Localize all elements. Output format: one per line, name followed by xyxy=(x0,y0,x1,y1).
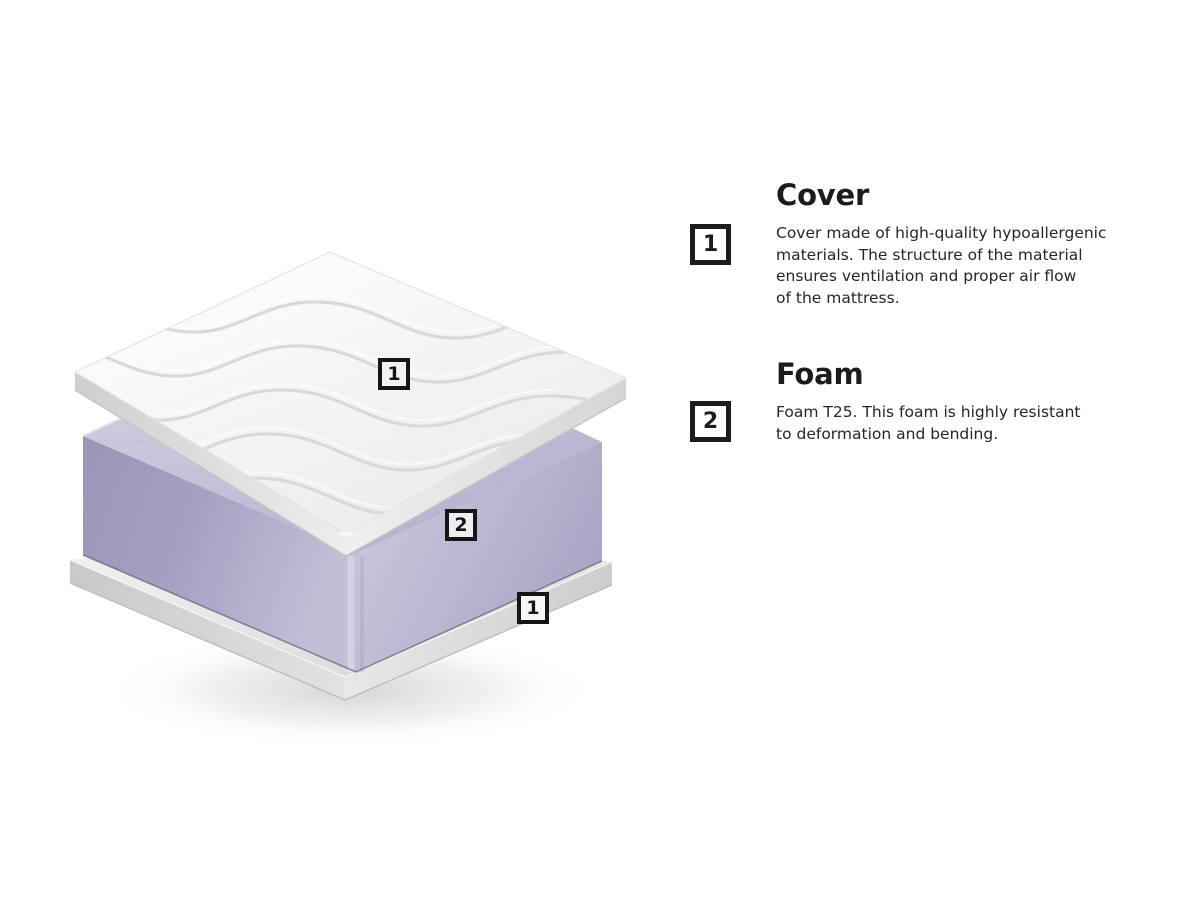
callout-marker-foam[interactable]: 2 xyxy=(445,509,477,541)
legend-body-cover: Cover Cover made of high-quality hypoall… xyxy=(776,178,1107,309)
mattress-layers-svg xyxy=(0,0,700,899)
legend-text-foam: Foam T25. This foam is highly resistant … xyxy=(776,402,1081,445)
layer-legend-panel: 1 Cover Cover made of high-quality hypoa… xyxy=(690,178,1160,493)
callout-marker-base[interactable]: 1 xyxy=(517,592,549,624)
legend-item-foam: 2 Foam Foam T25. This foam is highly res… xyxy=(690,357,1160,445)
legend-title-cover: Cover xyxy=(776,178,1107,212)
legend-badge-2: 2 xyxy=(690,401,731,442)
legend-title-foam: Foam xyxy=(776,357,1081,391)
mattress-cutaway-illustration: 1 2 1 xyxy=(0,0,700,899)
callout-marker-cover[interactable]: 1 xyxy=(378,358,410,390)
legend-item-cover: 1 Cover Cover made of high-quality hypoa… xyxy=(690,178,1160,309)
legend-text-cover: Cover made of high-quality hypoallergeni… xyxy=(776,223,1107,309)
legend-badge-1: 1 xyxy=(690,224,731,265)
legend-body-foam: Foam Foam T25. This foam is highly resis… xyxy=(776,357,1081,445)
